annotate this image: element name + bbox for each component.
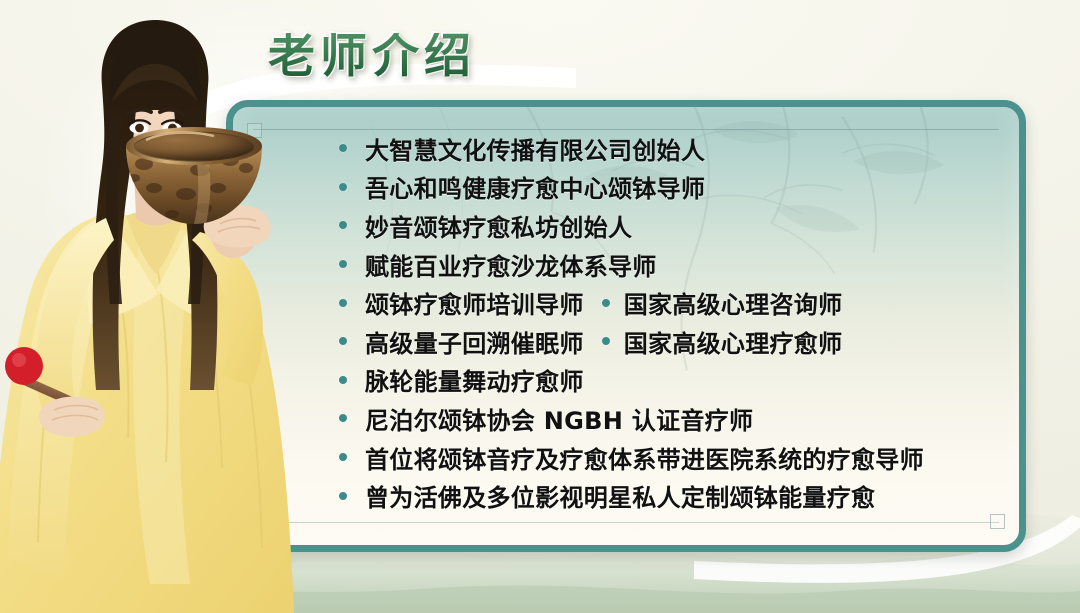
list-item-segment: 曾为活佛及多位影视明星私人定制颂钵能量疗愈 [339,478,875,513]
list-item-segment: 大智慧文化传播有限公司创始人 [339,131,705,166]
list-item-label: 国家高级心理疗愈师 [624,324,843,359]
list-item-segment: 尼泊尔颂钵协会 NGBH 认证音疗师 [339,401,753,436]
bullet-dot-icon [339,183,347,191]
list-item-segment: 国家高级心理咨询师 [602,285,843,320]
bullet-dot-icon [602,337,610,345]
list-item-label: 曾为活佛及多位影视明星私人定制颂钵能量疗愈 [365,478,875,513]
credential-list: 大智慧文化传播有限公司创始人 吾心和鸣健康疗愈中心颂钵导师 妙音颂钵疗愈私坊创始… [339,129,1007,515]
bullet-dot-icon [339,260,347,268]
list-item-label: 大智慧文化传播有限公司创始人 [365,131,705,166]
bullet-dot-icon [339,414,347,422]
list-item: 首位将颂钵音疗及疗愈体系带进医院系统的疗愈导师 [339,438,1007,477]
bullet-dot-icon [339,492,347,500]
list-item-label: 国家高级心理咨询师 [624,285,843,320]
list-item-label: 首位将颂钵音疗及疗愈体系带进医院系统的疗愈导师 [365,440,924,475]
list-item-segment: 妙音颂钵疗愈私坊创始人 [339,208,632,243]
list-item: 颂钵疗愈师培训导师 国家高级心理咨询师 [339,283,1007,322]
content-card: 大智慧文化传播有限公司创始人 吾心和鸣健康疗愈中心颂钵导师 妙音颂钵疗愈私坊创始… [226,100,1026,552]
corner-accent-top-left [247,123,262,138]
list-item-label: 颂钵疗愈师培训导师 [365,285,584,320]
list-item-segment: 吾心和鸣健康疗愈中心颂钵导师 [339,169,705,204]
list-item-segment: 颂钵疗愈师培训导师 [339,285,584,320]
list-item: 脉轮能量舞动疗愈师 [339,361,1007,400]
list-item: 大智慧文化传播有限公司创始人 [339,129,1007,168]
list-item-label: 脉轮能量舞动疗愈师 [365,362,584,397]
list-item-label: 高级量子回溯催眠师 [365,324,584,359]
page-title: 老师介绍 [268,33,476,80]
inner-frame-rule-bottom [253,522,999,523]
bullet-dot-icon [339,144,347,152]
bullet-dot-icon [339,299,347,307]
slide-root: 老师介绍 [0,0,1080,613]
list-item: 妙音颂钵疗愈私坊创始人 [339,206,1007,245]
list-item-label: 妙音颂钵疗愈私坊创始人 [365,208,632,243]
list-item-segment: 赋能百业疗愈沙龙体系导师 [339,247,657,282]
list-item: 赋能百业疗愈沙龙体系导师 [339,245,1007,284]
list-item-label: 尼泊尔颂钵协会 NGBH 认证音疗师 [365,401,753,436]
bullet-dot-icon [339,453,347,461]
corner-accent-bottom-right [990,514,1005,529]
bullet-dot-icon [602,299,610,307]
list-item: 尼泊尔颂钵协会 NGBH 认证音疗师 [339,399,1007,438]
list-item-label: 吾心和鸣健康疗愈中心颂钵导师 [365,169,705,204]
bullet-dot-icon [339,376,347,384]
list-item-segment: 脉轮能量舞动疗愈师 [339,362,584,397]
bullet-dot-icon [339,221,347,229]
list-item-label: 赋能百业疗愈沙龙体系导师 [365,247,657,282]
list-item-segment: 首位将颂钵音疗及疗愈体系带进医院系统的疗愈导师 [339,440,924,475]
bullet-dot-icon [339,337,347,345]
mallet [5,347,100,417]
list-item: 吾心和鸣健康疗愈中心颂钵导师 [339,168,1007,207]
list-item-segment: 国家高级心理疗愈师 [602,324,843,359]
list-item: 高级量子回溯催眠师 国家高级心理疗愈师 [339,322,1007,361]
list-item-segment: 高级量子回溯催眠师 [339,324,584,359]
list-item: 曾为活佛及多位影视明星私人定制颂钵能量疗愈 [339,476,1007,515]
